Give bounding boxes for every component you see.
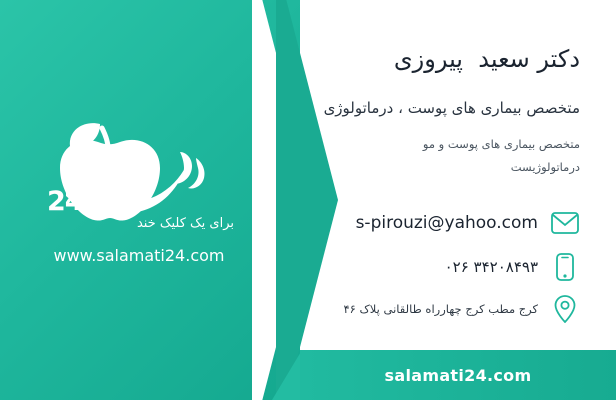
business-card: 24 برای یک کلیک خند www.salamati24.com د… xyxy=(0,0,616,400)
brand-logo: 24 برای یک کلیک خند www.salamati24.com xyxy=(14,108,264,288)
envelope-icon xyxy=(550,208,580,238)
contact-phone-row[interactable]: ۳۴۲۰۸۴۹۳ ۰۲۶ xyxy=(445,252,580,282)
logo-tagline: برای یک کلیک خند xyxy=(137,216,234,231)
doctor-subtitle-2: درماتولوژیست xyxy=(511,160,580,174)
doctor-subtitle-1: متخصص بیماری های پوست و مو xyxy=(423,137,580,151)
footer-website: salamati24.com xyxy=(385,366,532,385)
phone-icon xyxy=(550,252,580,282)
doctor-specialty: متخصص بیماری های پوست ، درماتولوژی xyxy=(324,99,580,117)
chevron-divider xyxy=(252,0,360,400)
map-pin-icon xyxy=(550,294,580,324)
contact-address-row[interactable]: کرج مطب کرج چهارراه طالقانی پلاک ۴۶ xyxy=(343,294,580,324)
logo-number: 24 xyxy=(47,186,83,217)
contact-email-row[interactable]: s-pirouzi@yahoo.com xyxy=(356,208,580,238)
logo-website: www.salamati24.com xyxy=(14,246,264,265)
contact-email-value: s-pirouzi@yahoo.com xyxy=(356,213,538,233)
footer-bar-notch xyxy=(272,350,302,400)
contact-address-value: کرج مطب کرج چهارراه طالقانی پلاک ۴۶ xyxy=(343,302,538,316)
footer-bar: salamati24.com xyxy=(300,350,616,400)
contact-phone-value: ۳۴۲۰۸۴۹۳ ۰۲۶ xyxy=(445,258,538,276)
doctor-name: دکتر سعید پیروزی xyxy=(394,45,580,73)
